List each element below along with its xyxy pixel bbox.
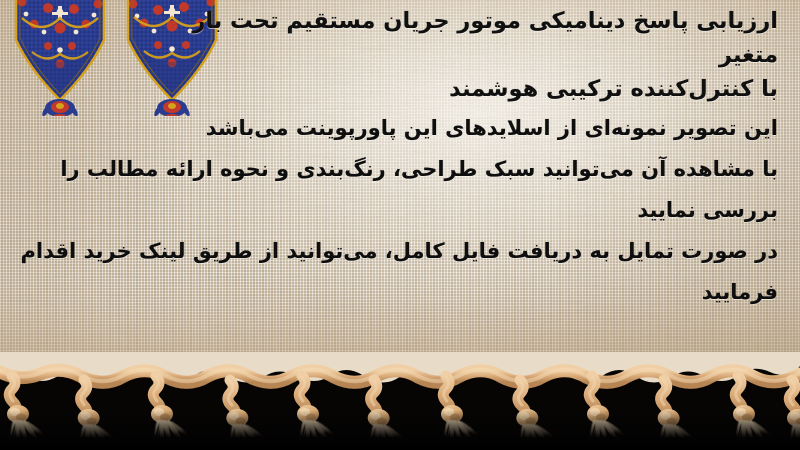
body-line-3: در صورت تمایل به دریافت فایل کامل، می‌تو… xyxy=(20,231,778,313)
persian-medallion-ornament xyxy=(14,0,106,116)
title-line-1: ارزیابی پاسخ دینامیکی موتور جریان مستقیم… xyxy=(178,4,778,72)
slide-body: این تصویر نمونه‌ای از اسلایدهای این پاور… xyxy=(20,108,778,313)
presentation-slide: ارزیابی پاسخ دینامیکی موتور جریان مستقیم… xyxy=(0,0,800,450)
slide-title: ارزیابی پاسخ دینامیکی موتور جریان مستقیم… xyxy=(178,4,778,106)
body-line-1: این تصویر نمونه‌ای از اسلایدهای این پاور… xyxy=(20,108,778,149)
title-line-2: با کنترل‌کننده ترکیبی هوشمند xyxy=(178,72,778,106)
knotted-tassel-fringe xyxy=(0,352,800,450)
body-line-2: با مشاهده آن می‌توانید سبک طراحی، رنگ‌بن… xyxy=(20,149,778,231)
